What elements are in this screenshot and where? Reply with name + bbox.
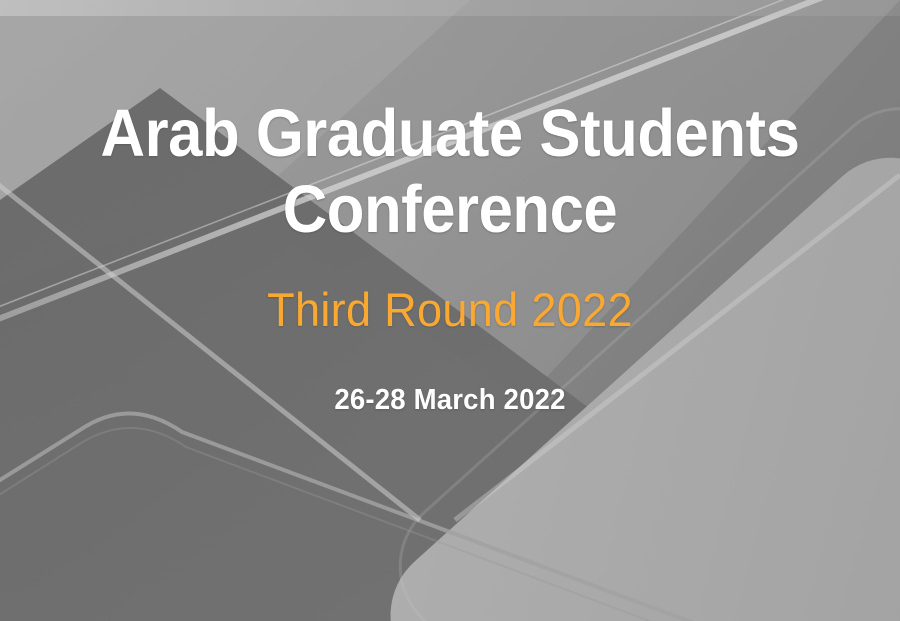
conference-round-subtitle: Third Round 2022 (18, 283, 882, 337)
conference-title-slide: Arab Graduate Students Conference Third … (0, 0, 900, 621)
title-line-1: Arab Graduate Students (36, 96, 864, 172)
conference-title: Arab Graduate Students Conference (0, 96, 900, 248)
slide-content: Arab Graduate Students Conference Third … (0, 0, 900, 621)
title-line-2: Conference (36, 172, 864, 248)
conference-dates: 26-28 March 2022 (23, 383, 878, 417)
